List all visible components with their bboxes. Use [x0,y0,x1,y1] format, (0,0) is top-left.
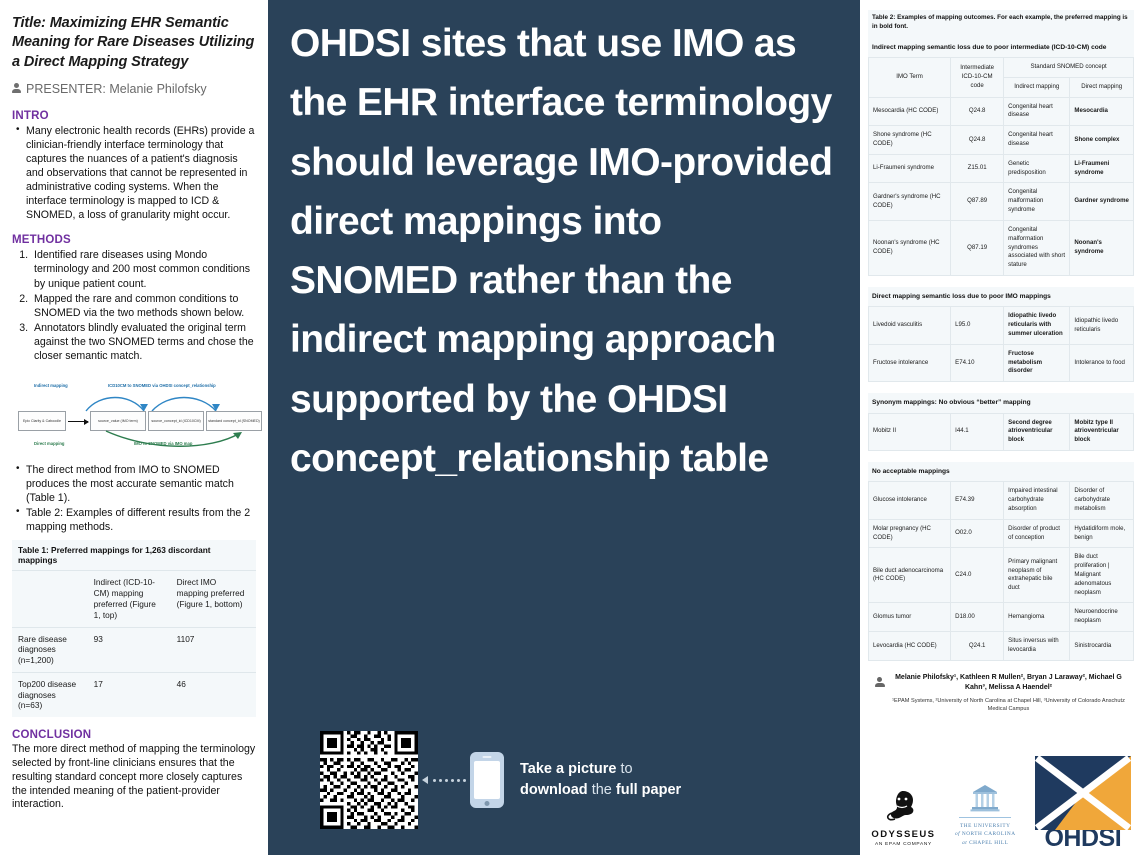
figure-indirect-arrows [72,391,262,413]
table-1-col-1: Indirect (ICD-10-CM) mapping preferred (… [88,571,171,627]
unc-logo: THE UNIVERSITY of NORTH CAROLINA at CHAP… [949,784,1022,855]
odysseus-tagline: AN EPAM COMPANY [868,842,939,847]
divider [959,817,1011,818]
list-item: Table 2: Examples of different results f… [12,506,256,534]
cell: Fructose metabolism disorder [1004,344,1070,381]
cta-strong-1: Take a picture [520,761,616,777]
cta-strong-2: download [520,782,588,798]
cell: Second degree atrioventricular block [1004,413,1070,450]
table-1: Table 1: Preferred mappings for 1,263 di… [12,540,256,717]
cell: 93 [88,627,171,672]
table-2-section-heading-3: Synonym mappings: No obvious “better” ma… [868,393,1134,412]
author-affiliations: ¹EPAM Systems, ²University of North Caro… [891,697,1126,714]
table-row: Livedoid vasculitis L95.0 Idiopathic liv… [869,307,1134,344]
presenter-label: PRESENTER: Melanie Philofsky [26,82,207,96]
cell: Idiopathic livedo reticularis [1070,307,1134,344]
cta-rest-1: to [616,761,632,777]
list-item: Mapped the rare and common conditions to… [31,292,256,320]
table-2-section-1: IMO Term Intermediate ICD-10-CM code Sta… [868,57,1134,276]
figure-arrow-main [68,421,88,422]
cell: Idiopathic livedo reticularis with summe… [1004,307,1070,344]
table-row: Noonan's syndrome (HC CODE) Q87.19 Conge… [869,220,1134,275]
table-2-caption: Table 2: Examples of mapping outcomes. F… [868,10,1134,38]
table-1-col-0 [12,571,88,627]
arrow-head-icon [422,776,428,784]
unc-line-2-main: NORTH CAROLINA [962,831,1016,837]
cell: Congenital heart disease [1004,97,1070,126]
table-row: Indirect (ICD-10-CM) mapping preferred (… [12,571,256,627]
cell: Gardner syndrome [1070,183,1134,220]
dotted-connector [418,776,470,784]
table-row: Top200 disease diagnoses (n=63) 17 46 [12,672,256,717]
list-item: The direct method from IMO to SNOMED pro… [12,463,256,505]
header-indirect-mapping: Indirect mapping [1004,77,1070,97]
odysseus-logo: ODYSSEUS AN EPAM COMPANY [868,789,939,855]
cell: Glomus tumor [869,603,951,632]
conclusion-text: The more direct method of mapping the te… [12,743,256,812]
unc-line-3-main: CHAPEL HILL [969,840,1008,846]
cell: Shone complex [1070,126,1134,155]
header-standard-snomed-group: Standard SNOMED concept [1004,57,1134,77]
table-row: Glucose intolerance E74.39 Impaired inte… [869,482,1134,519]
table-row: Mobitz II I44.1 Second degree atrioventr… [869,413,1134,450]
cta-text: Take a picture to download the full pape… [520,759,681,800]
table-row: Li-Fraumeni syndrome Z15.01 Genetic pred… [869,154,1134,183]
conclusion-section: CONCLUSION The more direct method of map… [12,729,256,812]
cell: Shone syndrome (HC CODE) [869,126,951,155]
cell: Hydatidiform mole, benign [1070,519,1134,548]
table-2-section-heading-1: Indirect mapping semantic loss due to po… [868,38,1134,57]
methods-list: Identified rare diseases using Mondo ter… [12,248,256,363]
cell: Q24.8 [951,126,1004,155]
list-item: Annotators blindly evaluated the origina… [31,321,256,363]
figure-box-source-concept: source_concept_id (ICD10CM) [148,411,204,431]
cta-strong-3: full paper [616,782,681,798]
table-row: Rare disease diagnoses (n=1,200) 93 1107 [12,627,256,672]
cell: Q87.89 [951,183,1004,220]
table-row: Molar pregnancy (HC CODE) O02.0 Disorder… [869,519,1134,548]
table-2-section-2: Livedoid vasculitis L95.0 Idiopathic liv… [868,306,1134,382]
cell: Neuroendocrine neoplasm [1070,603,1134,632]
cell: Rare disease diagnoses (n=1,200) [12,627,88,672]
table-2-section-heading-4: No acceptable mappings [868,462,1134,481]
cell: C24.0 [951,548,1004,603]
cell: Primary malignant neoplasm of extrahepat… [1004,548,1070,603]
cell: Congenital heart disease [1004,126,1070,155]
figure-label-indirect: Indirect mapping [34,383,68,388]
poster-root: Title: Maximizing EHR Semantic Meaning f… [0,0,1140,855]
unc-line-2: of NORTH CAROLINA [949,830,1022,838]
cell: Fructose intolerance [869,344,951,381]
cell: Mobitz II [869,413,951,450]
cell: Situs inversus with levocardia [1004,632,1070,661]
table-2-section-heading-2: Direct mapping semantic loss due to poor… [868,287,1134,306]
cell: Mesocardia [1070,97,1134,126]
cell: I44.1 [951,413,1004,450]
cell: Li-Fraumeni syndrome [1070,154,1134,183]
table-row: Glomus tumor D18.00 Hemangioma Neuroendo… [869,603,1134,632]
cell: Li-Fraumeni syndrome [869,154,951,183]
table-row: Levocardia (HC CODE) Q24.1 Situs inversu… [869,632,1134,661]
table-row: Shone syndrome (HC CODE) Q24.8 Congenita… [869,126,1134,155]
cell: Intolerance to food [1070,344,1134,381]
cta-mid-2: the [588,782,616,798]
unc-line-2-of: of [955,831,960,837]
ohdsi-logo: OHDSI [1032,756,1134,855]
cell: D18.00 [951,603,1004,632]
table-row: Mesocardia (HC CODE) Q24.8 Congenital he… [869,97,1134,126]
cell: Disorder of carbohydrate metabolism [1070,482,1134,519]
cell: Genetic predisposition [1004,154,1070,183]
cell: E74.39 [951,482,1004,519]
cell: Z15.01 [951,154,1004,183]
cell: Noonan's syndrome [1070,220,1134,275]
right-column: Table 2: Examples of mapping outcomes. F… [860,0,1140,855]
figure-box-source: Epic Clarity & Caboodle [18,411,66,431]
author-block: Melanie Philofsky¹, Kathleen R Mullen², … [868,661,1134,714]
cell: Mobitz type II atrioventricular block [1070,413,1134,450]
list-item: Many electronic health records (EHRs) pr… [12,124,256,223]
author-names: Melanie Philofsky¹, Kathleen R Mullen², … [891,673,1126,694]
methods-heading: METHODS [12,234,256,246]
header-intermediate-code: Intermediate ICD-10-CM code [951,57,1004,97]
table-row: Gardner's syndrome (HC CODE) Q87.89 Cong… [869,183,1134,220]
cell: Noonan's syndrome (HC CODE) [869,220,951,275]
cell: Q24.1 [951,632,1004,661]
cell: O02.0 [951,519,1004,548]
cell: Bile duct adenocarcinoma (HC CODE) [869,548,951,603]
logo-row: ODYSSEUS AN EPAM COMPANY [868,751,1134,855]
cell: Congenital malformation syndrome [1004,183,1070,220]
table-row: Fructose intolerance E74.10 Fructose met… [869,344,1134,381]
cell: 46 [171,672,256,717]
table-2-section-3: Mobitz II I44.1 Second degree atrioventr… [868,413,1134,451]
results-bullet-list: The direct method from IMO to SNOMED pro… [12,463,256,534]
header-direct-mapping: Direct mapping [1070,77,1134,97]
person-icon [874,677,885,689]
odysseus-face-icon [883,789,923,825]
cell: Livedoid vasculitis [869,307,951,344]
mapping-figure: Indirect mapping ICD10CM to SNOMED via O… [12,379,256,451]
old-well-icon [968,784,1002,814]
download-cta: Take a picture to download the full pape… [290,731,834,855]
cell: Congenital malformation syndromes associ… [1004,220,1070,275]
ohdsi-mark-icon [1035,756,1131,830]
table-2-section-4: Glucose intolerance E74.39 Impaired inte… [868,481,1134,661]
table-row: IMO Term Intermediate ICD-10-CM code Sta… [869,57,1134,77]
cell: Bile duct proliferation | Malignant aden… [1070,548,1134,603]
table-1-caption: Table 1: Preferred mappings for 1,263 di… [12,540,256,570]
cell: Q24.8 [951,97,1004,126]
cell: Mesocardia (HC CODE) [869,97,951,126]
list-item: Identified rare diseases using Mondo ter… [31,248,256,290]
cell: 1107 [171,627,256,672]
center-column: OHDSI sites that use IMO as the EHR inte… [268,0,860,855]
odysseus-wordmark: ODYSSEUS [868,829,939,840]
intro-heading: INTRO [12,110,256,122]
unc-line-3-at: at [962,840,967,846]
cell: Q87.19 [951,220,1004,275]
cell: Top200 disease diagnoses (n=63) [12,672,88,717]
header-imo-term: IMO Term [869,57,951,97]
cell: Impaired intestinal carbohydrate absorpt… [1004,482,1070,519]
cell: Sinistrocardia [1070,632,1134,661]
cell: L95.0 [951,307,1004,344]
figure-label-direct-detail: IMO to SNOMED via IMO map [134,441,192,446]
unc-line-1: THE UNIVERSITY [949,822,1022,830]
page-title: Title: Maximizing EHR Semantic Meaning f… [12,14,256,72]
figure-box-standard-concept: standard concept_id (SNOMED) [206,411,262,431]
unc-line-3: at CHAPEL HILL [949,839,1022,847]
figure-box-source-value: source_value (IMO term) [90,411,146,431]
cell: Disorder of product of conception [1004,519,1070,548]
figure-label-direct: Direct mapping [34,441,64,446]
cell: E74.10 [951,344,1004,381]
presenter-row: PRESENTER: Melanie Philofsky [12,82,256,96]
qr-code[interactable] [320,731,418,829]
conclusion-heading: CONCLUSION [12,729,256,741]
cell: Gardner's syndrome (HC CODE) [869,183,951,220]
cell: Hemangioma [1004,603,1070,632]
left-column: Title: Maximizing EHR Semantic Meaning f… [0,0,268,855]
person-icon [12,83,21,94]
table-row: Bile duct adenocarcinoma (HC CODE) C24.0… [869,548,1134,603]
cell: Levocardia (HC CODE) [869,632,951,661]
table-1-col-2: Direct IMO mapping preferred (Figure 1, … [171,571,256,627]
figure-label-indirect-detail: ICD10CM to SNOMED via OHDSI concept_rela… [108,383,216,388]
cell: Glucose intolerance [869,482,951,519]
key-message-headline: OHDSI sites that use IMO as the EHR inte… [290,14,834,731]
intro-bullet-list: Many electronic health records (EHRs) pr… [12,124,256,223]
cell: 17 [88,672,171,717]
cell: Molar pregnancy (HC CODE) [869,519,951,548]
phone-icon [470,752,504,808]
